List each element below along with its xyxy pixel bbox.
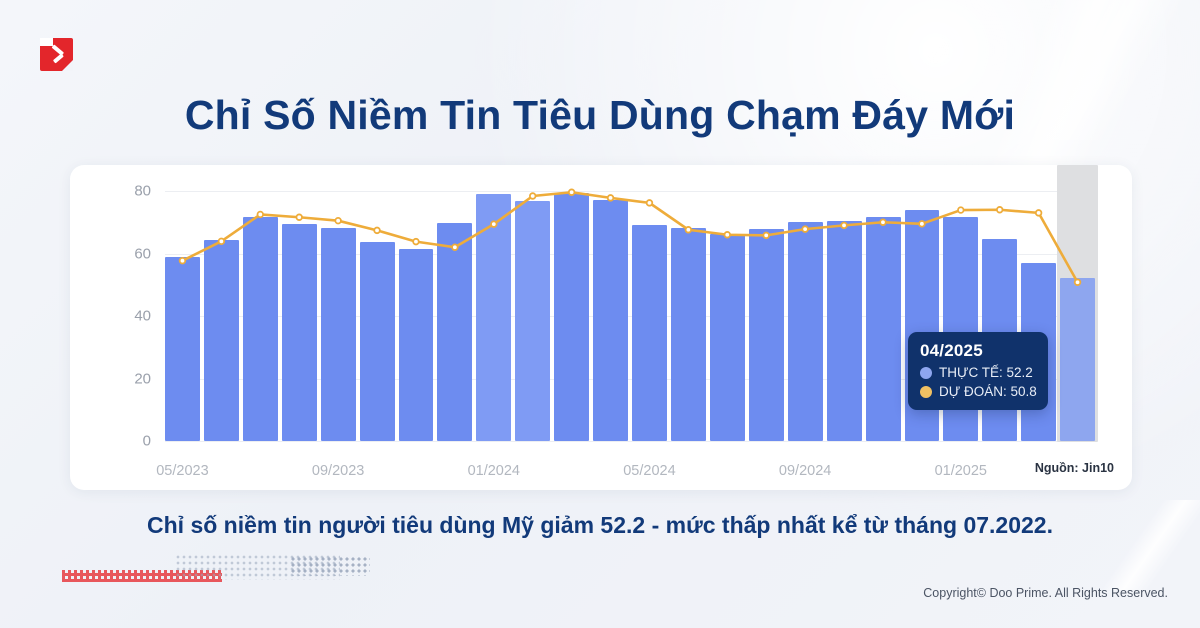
forecast-point-marker[interactable] [647, 200, 653, 206]
forecast-point-marker[interactable] [802, 226, 808, 232]
y-axis-tick: 80 [134, 183, 151, 200]
doo-prime-logo-icon [40, 38, 73, 71]
forecast-point-marker[interactable] [686, 227, 692, 233]
forecast-point-marker[interactable] [413, 239, 419, 245]
y-axis-tick: 20 [134, 370, 151, 387]
tooltip-row-forecast: DỰ ĐOÁN: 50.8 [920, 384, 1036, 399]
forecast-point-marker[interactable] [1075, 279, 1081, 285]
forecast-point-marker[interactable] [997, 207, 1003, 213]
forecast-point-marker[interactable] [219, 239, 225, 245]
tooltip-row-actual: THỰC TẾ: 52.2 [920, 365, 1036, 380]
forecast-point-marker[interactable] [180, 258, 186, 264]
actual-series-dot-icon [920, 367, 932, 379]
y-axis-tick: 40 [134, 308, 151, 325]
chart-tooltip: 04/2025 THỰC TẾ: 52.2 DỰ ĐOÁN: 50.8 [908, 332, 1048, 410]
gridline [165, 441, 1095, 442]
forecast-point-marker[interactable] [530, 193, 536, 199]
decorative-gray-dots-dense [290, 556, 370, 576]
forecast-point-marker[interactable] [958, 207, 964, 213]
forecast-point-marker[interactable] [569, 189, 575, 195]
tooltip-actual-label: THỰC TẾ: 52.2 [939, 365, 1033, 380]
forecast-point-marker[interactable] [919, 221, 925, 227]
tooltip-date: 04/2025 [920, 341, 1036, 361]
copyright-text: Copyright© Doo Prime. All Rights Reserve… [923, 586, 1168, 600]
forecast-point-marker[interactable] [841, 223, 847, 229]
forecast-point-marker[interactable] [296, 214, 302, 220]
forecast-point-marker[interactable] [724, 232, 730, 238]
forecast-point-marker[interactable] [335, 218, 341, 224]
forecast-series-dot-icon [920, 386, 932, 398]
chart-source-label: Nguồn: Jin10 [1035, 461, 1114, 475]
x-axis-tick: 09/2024 [779, 463, 831, 479]
chart-caption: Chỉ số niềm tin người tiêu dùng Mỹ giảm … [0, 512, 1200, 539]
forecast-line [182, 192, 1077, 282]
tooltip-forecast-label: DỰ ĐOÁN: 50.8 [939, 384, 1037, 399]
forecast-point-marker[interactable] [452, 244, 458, 250]
page-title: Chỉ Số Niềm Tin Tiêu Dùng Chạm Đáy Mới [0, 92, 1200, 139]
y-axis-tick: 60 [134, 245, 151, 262]
forecast-point-marker[interactable] [257, 212, 263, 218]
forecast-point-marker[interactable] [763, 233, 769, 239]
forecast-point-marker[interactable] [491, 221, 497, 227]
x-axis-tick: 01/2024 [468, 463, 520, 479]
forecast-point-marker[interactable] [608, 195, 614, 201]
x-axis-tick: 05/2023 [156, 463, 208, 479]
forecast-point-marker[interactable] [1036, 210, 1042, 216]
x-axis-labels: 05/202309/202301/202405/202409/202401/20… [165, 463, 1095, 481]
chart-card: 020406080 05/202309/202301/202405/202409… [70, 165, 1132, 490]
forecast-point-marker[interactable] [374, 228, 380, 234]
y-axis-tick: 0 [143, 433, 151, 450]
x-axis-tick: 05/2024 [623, 463, 675, 479]
decorative-sheen [892, 0, 1200, 182]
x-axis-tick: 09/2023 [312, 463, 364, 479]
forecast-point-marker[interactable] [880, 219, 886, 225]
x-axis-tick: 01/2025 [935, 463, 987, 479]
